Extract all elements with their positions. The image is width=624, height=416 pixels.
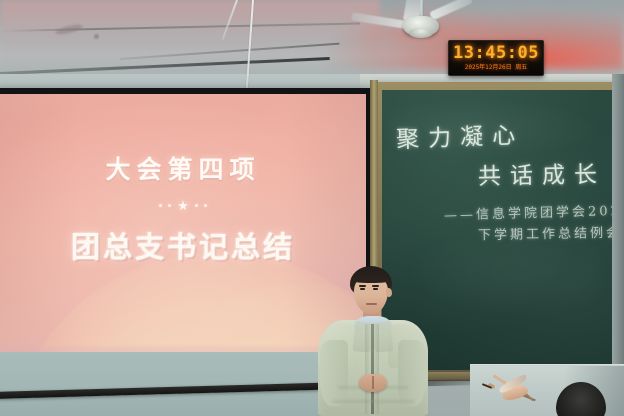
fan-hub-cap (409, 28, 433, 38)
projection-screen: 大会第四项 ★ 团总支书记总结 (0, 94, 366, 372)
person-jacket-fold-lower (332, 400, 414, 403)
blackboard-subline-1: ——信息学院团学会2025 (444, 200, 624, 224)
divider-dot (159, 204, 162, 207)
person-eyebrow-right (372, 285, 379, 287)
blackboard-headline-line2: 共话成长 (478, 155, 607, 191)
clock-time-display: 13:45:05 (449, 43, 543, 63)
crane-neck (492, 374, 506, 384)
person-arm-left (320, 340, 348, 406)
person-ear (386, 288, 392, 297)
divider-dot (168, 204, 171, 207)
led-clock: 13:45:05 2025年12月26日 周五 (448, 40, 544, 76)
slide-divider: ★ (0, 198, 366, 212)
person-eye-left (360, 288, 365, 290)
clock-date-display: 2025年12月26日 周五 (449, 62, 543, 71)
wall-right-pillar (612, 74, 624, 374)
divider-star-icon: ★ (177, 199, 189, 212)
fan-blade-right (429, 0, 473, 21)
divider-dot (195, 204, 198, 207)
speaker-person (318, 266, 428, 416)
person-eye-right (373, 288, 378, 290)
person-hand-crease (372, 376, 374, 389)
blackboard-chalk-smudge-lower (402, 240, 602, 320)
person-arm-right (398, 340, 426, 406)
person-mouth (366, 303, 377, 305)
blackboard-subline-2: 下学期工作总结例会 (478, 222, 622, 244)
classroom-scene: 大会第四项 ★ 团总支书记总结 聚力凝心 共话成长 ——信息学院团学会2025 … (0, 0, 624, 416)
ceiling-spot-mark (94, 34, 99, 39)
slide-subtitle: 团总支书记总结 (0, 224, 366, 266)
crane-icon (488, 372, 548, 412)
slide-title: 大会第四项 (0, 150, 366, 186)
blackboard-headline-line1: 聚力凝心 (395, 116, 524, 154)
person-eyebrow-left (359, 285, 366, 287)
divider-dot (204, 204, 207, 207)
